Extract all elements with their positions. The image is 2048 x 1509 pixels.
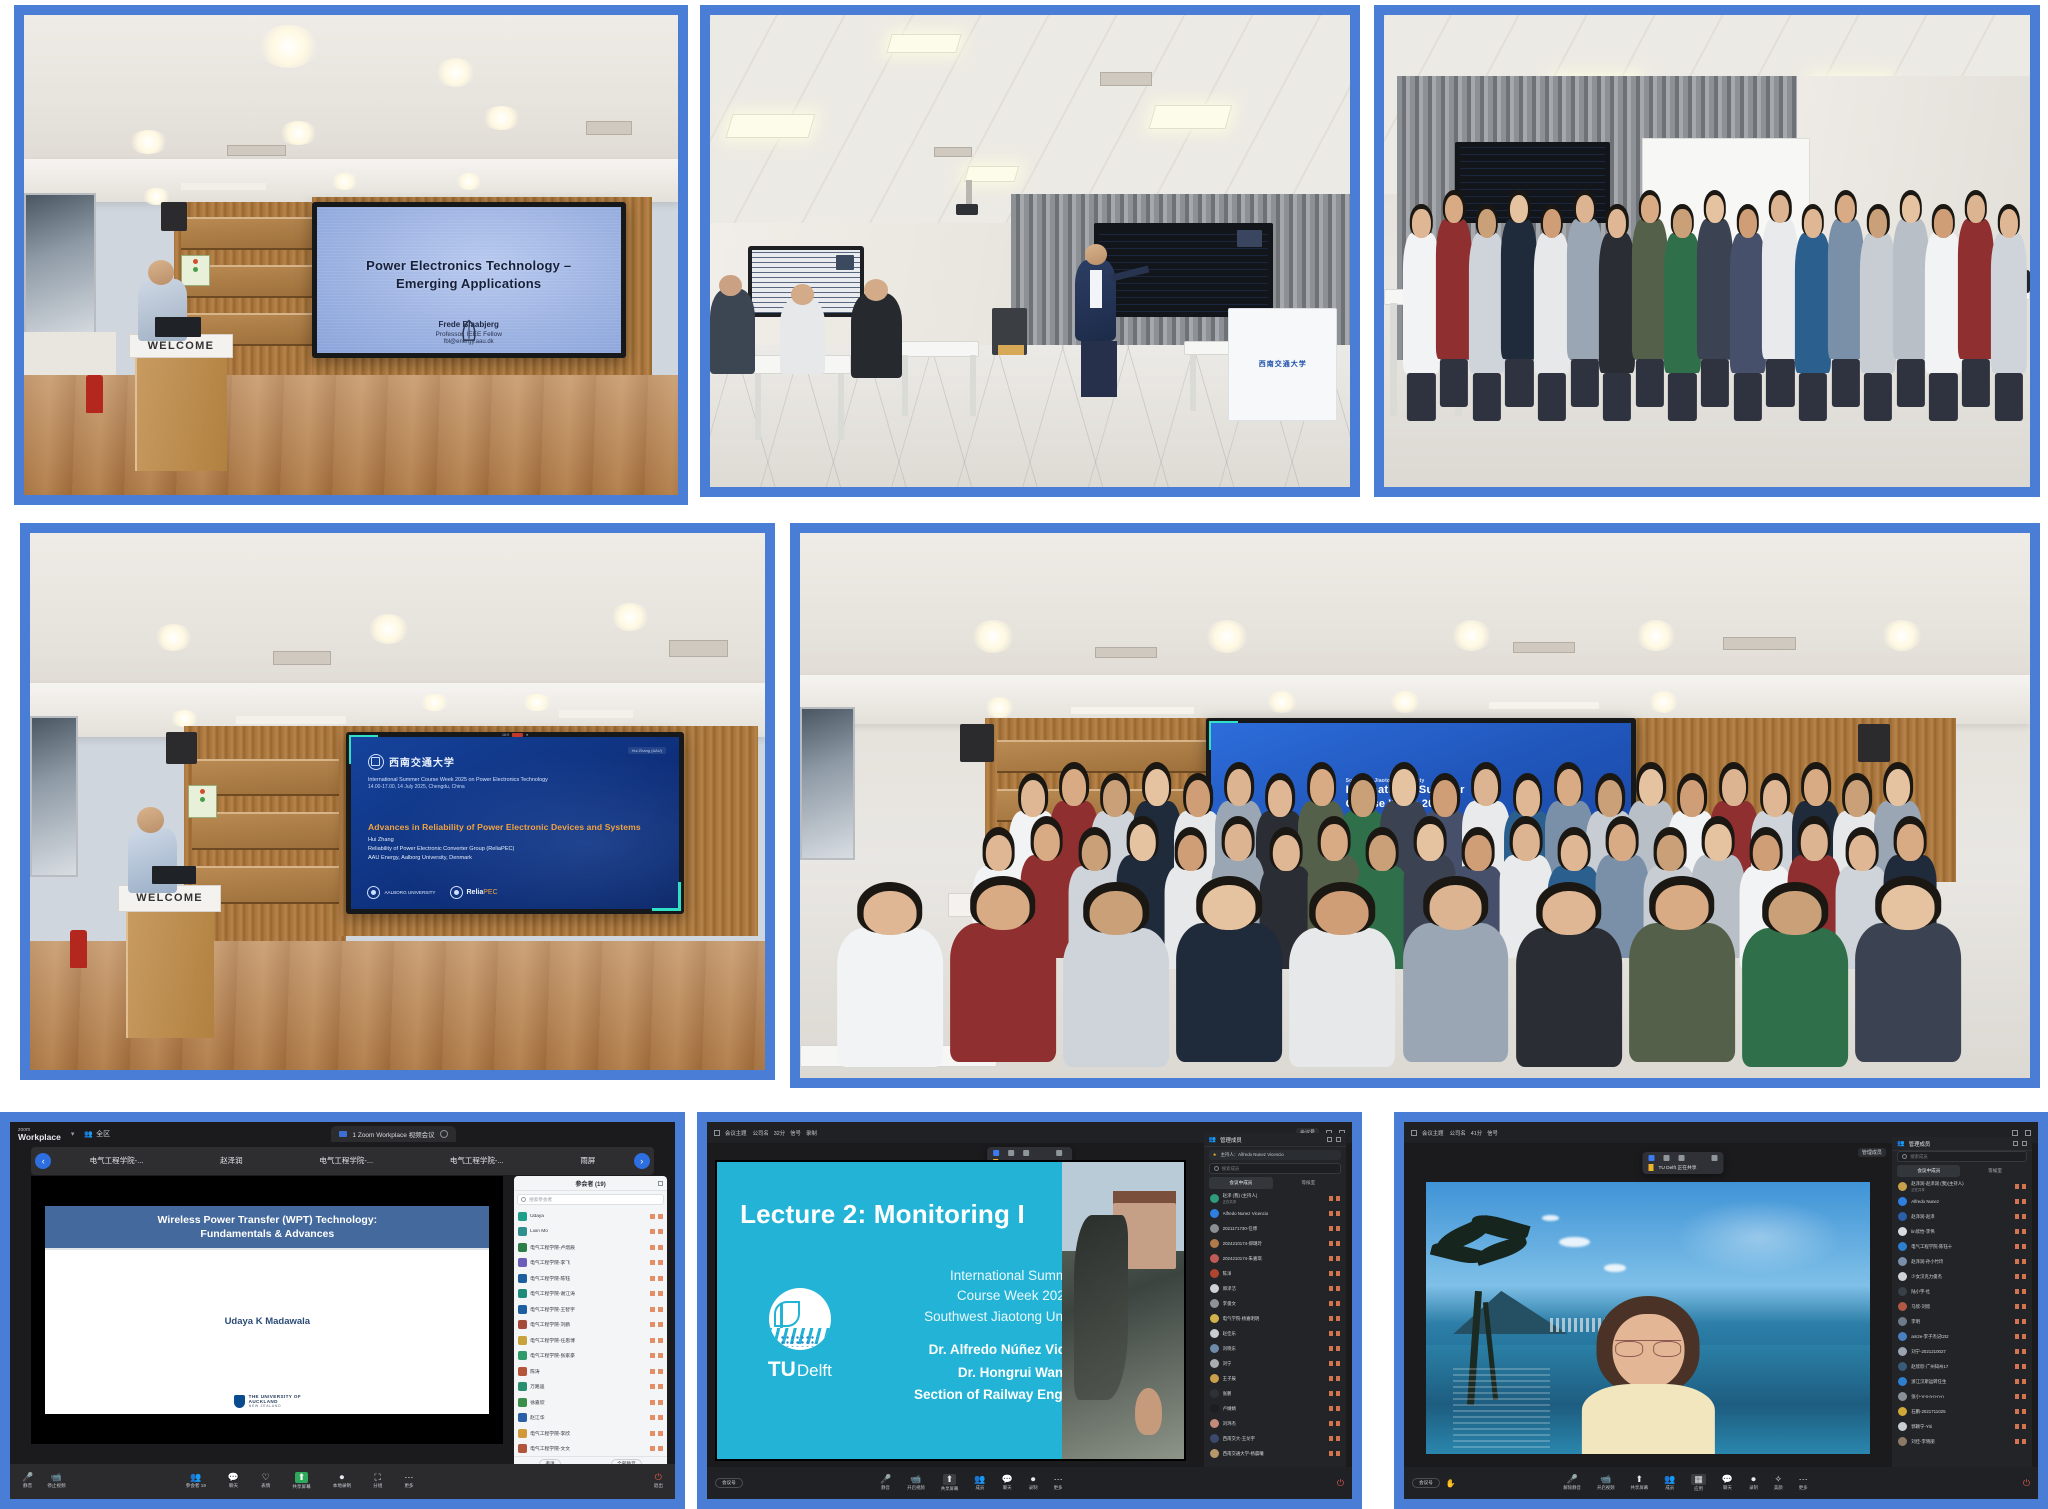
chat-icon: 💬	[228, 1473, 239, 1482]
toolbar-members[interactable]: 👥成员	[974, 1475, 985, 1491]
close-icon[interactable]	[1336, 1137, 1341, 1142]
strip-prev-button[interactable]: ‹	[35, 1153, 51, 1169]
member-row[interactable]: 赵泽润-孙小竹玲	[1892, 1254, 2031, 1269]
video-icon[interactable]	[1336, 1271, 1340, 1276]
video-icon[interactable]	[2022, 1214, 2026, 1219]
member-row[interactable]: Alfredo Nunez Vicencio	[1204, 1206, 1346, 1221]
member-row[interactable]: 张小-V-n-n-n-n-n	[1892, 1389, 2031, 1404]
mic-icon[interactable]	[1329, 1301, 1333, 1306]
photo-collage: Power Electronics Technology – Emerging …	[0, 0, 2048, 1509]
manage-members-chip[interactable]: 管理成员	[1858, 1148, 1886, 1157]
member-row[interactable]: 2024210174-朱嘉琪	[1204, 1251, 1346, 1266]
mic-icon[interactable]	[650, 1229, 655, 1234]
mic-icon[interactable]	[1329, 1436, 1333, 1441]
toolbar-participants[interactable]: 👥参会者 19	[186, 1473, 206, 1489]
member-row[interactable]: 郭颖宁-Yiti	[1892, 1419, 2031, 1434]
mic-icon[interactable]	[1329, 1256, 1333, 1261]
video-icon[interactable]	[1336, 1421, 1340, 1426]
podium-welcome-text: WELCOME	[136, 892, 203, 904]
railway-emblem-icon	[769, 1288, 831, 1350]
member-row[interactable]: 西南交大-王龙宇	[1204, 1431, 1346, 1446]
participant-row[interactable]: 徐嘉欣	[514, 1394, 667, 1410]
face	[1576, 195, 1594, 223]
zoom-shared-screen[interactable]: Wireless Power Transfer (WPT) Technology…	[31, 1176, 503, 1444]
video-icon[interactable]	[658, 1400, 663, 1405]
video-icon[interactable]	[658, 1353, 663, 1358]
video-icon[interactable]	[2022, 1259, 2026, 1264]
mic-icon[interactable]	[650, 1307, 655, 1312]
mic-icon[interactable]	[2015, 1394, 2019, 1399]
participant-row[interactable]: 赵江华	[514, 1410, 667, 1426]
toolbar-leave[interactable]: ⏻退出	[654, 1473, 663, 1489]
participant-row[interactable]: 电气工程学院-谢江涛	[514, 1286, 667, 1302]
strip-name[interactable]: 电气工程学院-...	[450, 1155, 504, 1166]
mic-icon[interactable]	[1329, 1211, 1333, 1216]
mic-icon[interactable]	[2015, 1379, 2019, 1384]
toolbar-record[interactable]: ⏺录制	[1029, 1475, 1038, 1491]
stop-icon[interactable]	[1008, 1150, 1014, 1156]
toolbar-record[interactable]: ⏺本地录制	[333, 1473, 351, 1489]
avatar	[518, 1398, 527, 1407]
mic-icon[interactable]	[2015, 1199, 2019, 1204]
toolbar-camera[interactable]: 📹开启视频	[1597, 1475, 1615, 1491]
video-icon[interactable]	[658, 1446, 663, 1451]
sharing-float-toolbar[interactable]: TU Delft 正在共享	[1642, 1152, 1723, 1174]
member-row[interactable]: 电气学院-杨嘉明明	[1204, 1311, 1346, 1326]
participant-row[interactable]: 电气工程学院-王智宇	[514, 1301, 667, 1317]
close-icon[interactable]	[2025, 1130, 2031, 1136]
member-row[interactable]: 少女汉克力俊杰	[1892, 1269, 2031, 1284]
mic-icon[interactable]	[650, 1291, 655, 1296]
grid-icon[interactable]	[714, 1130, 720, 1136]
video-icon[interactable]	[1336, 1211, 1340, 1216]
mic-icon[interactable]	[2015, 1409, 2019, 1414]
video-icon[interactable]	[1336, 1361, 1340, 1366]
video-icon[interactable]	[658, 1384, 663, 1389]
face	[1510, 195, 1528, 223]
toolbar-mic-muted[interactable]: 🎤静音	[22, 1473, 33, 1489]
torso	[1958, 219, 1994, 359]
person-figure	[1629, 876, 1735, 1061]
video-icon[interactable]	[658, 1245, 663, 1250]
video-icon[interactable]	[1336, 1451, 1340, 1456]
slide-wpt: Wireless Power Transfer (WPT) Technology…	[45, 1206, 489, 1415]
mic-icon[interactable]	[650, 1446, 655, 1451]
torso	[1855, 923, 1961, 1062]
toolbar-video-muted[interactable]: 📹停止视频	[47, 1473, 65, 1489]
member-row[interactable]: 陈洋	[1204, 1266, 1346, 1281]
mic-icon[interactable]	[2015, 1184, 2019, 1189]
avatar	[1210, 1209, 1219, 1218]
member-row[interactable]: 王子辰	[1204, 1371, 1346, 1386]
strip-name[interactable]: 雨屏	[580, 1155, 595, 1166]
video-icon[interactable]	[658, 1338, 663, 1343]
participant-row[interactable]: 电气工程学院-文文	[514, 1441, 667, 1457]
video-icon[interactable]	[1336, 1256, 1340, 1261]
participant-row[interactable]: 电气工程学院-卢熠辰	[514, 1239, 667, 1255]
participants-list[interactable]: UdayaLixin Mo电气工程学院-卢熠辰电气工程学院-李飞电气工程学院-陈…	[514, 1208, 667, 1456]
mic-icon[interactable]	[650, 1276, 655, 1281]
mic-icon[interactable]	[650, 1338, 655, 1343]
mic-icon[interactable]	[2015, 1304, 2019, 1309]
mic-icon[interactable]	[1329, 1316, 1333, 1321]
minimize-icon[interactable]	[993, 1150, 999, 1156]
member-row[interactable]: lin欣怡-李伟	[1892, 1224, 2031, 1239]
member-row[interactable]: 郑泽洁	[1204, 1281, 1346, 1296]
video-icon[interactable]	[1336, 1286, 1340, 1291]
mic-icon[interactable]	[2015, 1439, 2019, 1444]
toolbar-share[interactable]: ⬆共享屏幕	[941, 1474, 959, 1492]
mic-icon[interactable]	[2015, 1334, 2019, 1339]
chevron-left-icon: ‹	[42, 1156, 45, 1166]
video-icon[interactable]	[1336, 1241, 1340, 1246]
video-icon[interactable]	[658, 1415, 663, 1420]
toolbar-beauty[interactable]: ✧美颜	[1774, 1475, 1783, 1491]
smart-whiteboard	[1094, 223, 1273, 317]
grid-icon[interactable]	[1411, 1130, 1417, 1136]
mic-icon[interactable]	[2015, 1229, 2019, 1234]
toolbar-breakout[interactable]: ⛶分组	[373, 1473, 382, 1489]
video-icon[interactable]	[658, 1307, 663, 1312]
member-row[interactable]: 西南交通大学-杨晨曦	[1204, 1446, 1346, 1461]
video-icon[interactable]	[2022, 1274, 2026, 1279]
video-icon[interactable]	[1336, 1391, 1340, 1396]
meeting-id-pill[interactable]: 会议号	[1412, 1478, 1440, 1488]
mic-icon[interactable]	[650, 1369, 655, 1374]
student-figure	[851, 293, 902, 378]
titlebar-label: 公司名	[1450, 1129, 1466, 1137]
toolbar-chat[interactable]: 💬聊天	[1722, 1475, 1733, 1491]
toolbar-more[interactable]: ⋯更多	[1054, 1475, 1063, 1491]
video-icon[interactable]	[2022, 1199, 2026, 1204]
member-name: 陆小宇-杜	[1911, 1289, 1930, 1295]
video-icon[interactable]	[2022, 1439, 2026, 1444]
member-row[interactable]: 石鹏-2021711025	[1892, 1404, 2031, 1419]
participant-row[interactable]: 陈涛	[514, 1363, 667, 1379]
wpt-title-line2: Fundamentals & Advances	[51, 1227, 483, 1241]
mic-icon[interactable]	[1329, 1241, 1333, 1246]
search-placeholder: 搜索参会者	[529, 1197, 552, 1203]
members-search-input[interactable]: 搜索成员	[1897, 1151, 2026, 1162]
toolbar-apps[interactable]: ▦应用	[1691, 1474, 1706, 1492]
toolbar-more[interactable]: ⋯更多	[1799, 1475, 1808, 1491]
avatar	[1898, 1182, 1907, 1191]
video-icon[interactable]	[1336, 1226, 1340, 1231]
video-icon[interactable]	[658, 1322, 663, 1327]
torso	[1629, 923, 1735, 1062]
list-icon[interactable]	[1023, 1150, 1029, 1156]
close-icon[interactable]	[440, 1130, 448, 1138]
tencent-meeting-window-lecture[interactable]: 会议主题 公司名32分信号录制 会议号 TU Delft - Dr. Núñez…	[697, 1112, 1362, 1509]
face	[1417, 824, 1443, 861]
video-icon[interactable]	[2022, 1424, 2026, 1429]
face	[1203, 885, 1256, 929]
mic-icon[interactable]	[650, 1400, 655, 1405]
video-icon[interactable]	[658, 1369, 663, 1374]
mic-icon[interactable]	[1329, 1271, 1333, 1276]
legs	[1897, 359, 1925, 407]
tencent-members-panel[interactable]: 👥 管理成员 搜索成员 会议中成员等候室 赵泽润-赵泽润 (我)(主持人)正在共…	[1892, 1137, 2031, 1488]
torso	[1893, 219, 1929, 359]
member-name: 李明	[1911, 1319, 1920, 1325]
toolbar-record[interactable]: ⏺录制	[1749, 1475, 1758, 1491]
video-icon[interactable]	[1336, 1301, 1340, 1306]
speaker-head	[148, 260, 174, 285]
mic-icon[interactable]	[2015, 1364, 2019, 1369]
participants-search-input[interactable]: 搜索参会者	[517, 1194, 664, 1205]
mic-icon[interactable]	[1329, 1226, 1333, 1231]
video-icon[interactable]	[1336, 1406, 1340, 1411]
member-row[interactable]: 张鹏	[1204, 1386, 1346, 1401]
members-list[interactable]: 赵泽 (我) (主持人)正在共享Alfredo Nunez Vicencio20…	[1204, 1191, 1346, 1487]
participant-row[interactable]: 电气工程学院-李欣	[514, 1425, 667, 1441]
tencent-toolbar[interactable]: 会议号 ✋ 🎤解除静音📹开启视频⬆共享屏幕👥成员▦应用💬聊天⏺录制✧美颜⋯更多 …	[1404, 1467, 2038, 1499]
tencent-video-stage[interactable]	[1426, 1182, 1870, 1453]
zoom-participants-panel[interactable]: 参会者 (19) 搜索参会者 UdayaLixin Mo电气工程学院-卢熠辰电气…	[514, 1176, 667, 1470]
member-row[interactable]: 2024210174-郑璐玲	[1204, 1236, 1346, 1251]
participant-row[interactable]: 万路遥	[514, 1379, 667, 1395]
video-icon[interactable]	[1336, 1196, 1340, 1201]
toolbar-chat[interactable]: 💬聊天	[1002, 1475, 1013, 1491]
video-icon[interactable]	[2022, 1409, 2026, 1414]
minimize-icon[interactable]	[1648, 1155, 1654, 1161]
torso	[1501, 219, 1537, 359]
person-figure	[1176, 876, 1282, 1061]
video-icon[interactable]	[1336, 1316, 1340, 1321]
legs	[1995, 373, 2023, 421]
participant-row[interactable]: Lixin Mo	[514, 1224, 667, 1240]
mic-icon[interactable]	[650, 1353, 655, 1358]
member-row[interactable]: 刘宁-2021210027	[1892, 1344, 2031, 1359]
panel-tab[interactable]: 会议中成员	[1897, 1165, 1960, 1177]
member-name: 张小-V-n-n-n-n-n	[1911, 1394, 1943, 1400]
tencent-toolbar[interactable]: 会议号 🎤静音📹开启视频⬆共享屏幕👥成员💬聊天⏺录制⋯更多 ⏻	[707, 1467, 1352, 1499]
member-row[interactable]: 赵欣欣-广州知州17	[1892, 1359, 2031, 1374]
face	[1543, 209, 1561, 237]
mic-icon[interactable]	[1329, 1346, 1333, 1351]
avatar	[518, 1351, 527, 1360]
strip-name[interactable]: 电气工程学院-...	[90, 1155, 144, 1166]
video-icon[interactable]	[2022, 1244, 2026, 1249]
popout-icon[interactable]	[2013, 1141, 2018, 1146]
torso	[1516, 928, 1622, 1067]
mic-icon[interactable]	[650, 1384, 655, 1389]
zoom-tab-meeting[interactable]: 1 Zoom Workplace 视频会议	[331, 1126, 455, 1142]
more-icon[interactable]	[1711, 1155, 1717, 1161]
panel-tab[interactable]: 会议中成员	[1209, 1177, 1273, 1189]
chevron-down-icon[interactable]: ▾	[71, 1130, 75, 1138]
titlebar-label: 信号	[790, 1129, 801, 1137]
video-icon[interactable]	[2022, 1364, 2026, 1369]
mic-icon[interactable]	[1329, 1421, 1333, 1426]
member-name: 马欣-刘欣	[1911, 1304, 1930, 1310]
member-row[interactable]: 赵泽 (我) (主持人)正在共享	[1204, 1191, 1346, 1206]
mic-icon[interactable]	[1329, 1196, 1333, 1201]
mic-icon[interactable]	[1329, 1406, 1333, 1411]
leave-icon[interactable]: ⏻	[2023, 1478, 2030, 1489]
video-icon[interactable]	[658, 1291, 663, 1296]
strip-next-button[interactable]: ›	[634, 1153, 650, 1169]
mic-icon[interactable]	[2015, 1289, 2019, 1294]
member-row[interactable]: 李明	[1892, 1314, 2031, 1329]
tencent-members-panel[interactable]: 👥 管理成员 ★ 主持人：Alfredo Nunez Vicencio 搜索成员…	[1204, 1133, 1346, 1487]
member-row[interactable]: 2021171730-任博	[1204, 1221, 1346, 1236]
list-icon[interactable]	[1678, 1155, 1684, 1161]
mic-icon[interactable]	[2015, 1214, 2019, 1219]
strip-name[interactable]: 电气工程学院-...	[319, 1155, 373, 1166]
member-row[interactable]: 陆小宇-杜	[1892, 1284, 2031, 1299]
toolbar-mic[interactable]: 🎤解除静音	[1563, 1475, 1581, 1491]
participant-name: 电气工程学院-李飞	[530, 1259, 570, 1266]
close-icon[interactable]	[2022, 1141, 2027, 1146]
search-icon	[1214, 1166, 1219, 1171]
hand-icon[interactable]: ✋	[1446, 1479, 1456, 1488]
participant-row[interactable]: 电气工程学院-陈钰	[514, 1270, 667, 1286]
video-icon[interactable]	[1336, 1331, 1340, 1336]
torso	[1469, 233, 1505, 373]
zoom-view-chip[interactable]: 👥 全区	[84, 1129, 110, 1139]
mic-icon[interactable]	[2015, 1349, 2019, 1354]
member-row[interactable]: 刘晓东	[1204, 1341, 1346, 1356]
member-row[interactable]: Alfredo Nunez	[1892, 1194, 2031, 1209]
toolbar-mic[interactable]: 🎤静音	[880, 1475, 891, 1491]
member-row[interactable]: 李俊文	[1204, 1296, 1346, 1311]
member-row[interactable]: 浙江汉斯运转任生	[1892, 1374, 2031, 1389]
toolbar-label: 聊天	[229, 1483, 238, 1489]
member-row[interactable]: 马欣-刘欣	[1892, 1299, 2031, 1314]
mic-icon[interactable]	[1329, 1376, 1333, 1381]
video-icon[interactable]	[2022, 1304, 2026, 1309]
video-icon[interactable]	[2022, 1184, 2026, 1189]
panel-tabs[interactable]: 会议中成员等候室	[1897, 1165, 2026, 1177]
face	[1849, 835, 1875, 872]
mic-icon[interactable]	[650, 1415, 655, 1420]
minimize-icon[interactable]	[2012, 1130, 2018, 1136]
participant-name: 电气工程学院-谢江涛	[530, 1290, 575, 1297]
member-row[interactable]: 赵泽润-赵泽	[1892, 1209, 2031, 1224]
video-icon[interactable]	[1336, 1346, 1340, 1351]
torso	[1795, 233, 1831, 373]
meeting-id-pill[interactable]: 会议号	[715, 1478, 743, 1488]
video-icon[interactable]	[2022, 1349, 2026, 1354]
video-icon[interactable]	[2022, 1379, 2026, 1384]
video-icon[interactable]	[2022, 1229, 2026, 1234]
panel-tabs[interactable]: 会议中成员等候室	[1209, 1177, 1341, 1189]
mic-icon[interactable]	[2015, 1259, 2019, 1264]
video-icon[interactable]	[2022, 1319, 2026, 1324]
video-icon[interactable]	[1336, 1376, 1340, 1381]
member-row[interactable]: 赵佳乐	[1204, 1326, 1346, 1341]
popout-icon[interactable]	[658, 1181, 663, 1186]
video-icon[interactable]	[658, 1276, 663, 1281]
video-icon[interactable]	[658, 1260, 663, 1265]
member-row[interactable]: 刘宁	[1204, 1356, 1346, 1371]
toolbar-camera[interactable]: 📹开启视频	[907, 1475, 925, 1491]
member-row[interactable]: 卢婧婧	[1204, 1401, 1346, 1416]
video-icon[interactable]	[1336, 1436, 1340, 1441]
toolbar-label: 更多	[404, 1483, 413, 1489]
popout-icon[interactable]	[1327, 1137, 1332, 1142]
mic-icon[interactable]	[650, 1260, 655, 1265]
toolbar-reactions[interactable]: ♡表情	[261, 1473, 270, 1489]
toolbar-chat[interactable]: 💬聊天	[228, 1473, 239, 1489]
slide-speaker: Hui Zhang	[368, 836, 662, 845]
tencent-shared-screen[interactable]: Lecture 2: Monitoring I TU Delft	[715, 1160, 1186, 1462]
member-name: 赵泽润-赵泽	[1911, 1214, 1934, 1220]
titlebar-label: 41分	[1471, 1129, 1482, 1137]
auckland-logo: THE UNIVERSITY OF AUCKLAND NEW ZEALAND	[45, 1394, 489, 1415]
toolbar-share[interactable]: ⬆共享屏幕	[1631, 1475, 1649, 1491]
video-icon[interactable]	[658, 1431, 663, 1436]
toolbar-members[interactable]: 👥成员	[1664, 1475, 1675, 1491]
member-row[interactable]: 电气工程学院-陈钰十	[1892, 1239, 2031, 1254]
mic-icon[interactable]	[1329, 1451, 1333, 1456]
member-row[interactable]: am2e-李子杰记t2t2	[1892, 1329, 2031, 1344]
mic-icon: 🎤	[1567, 1475, 1578, 1484]
more-icon[interactable]	[1056, 1150, 1062, 1156]
presentation-screen: 16:9● Hui Zhang (AAU) 西南交通大学 Internation…	[346, 732, 684, 915]
tencent-meeting-window-speaker[interactable]: 会议主题 公司名41分信号 管理成员 TU Delft 正在共享	[1394, 1112, 2048, 1509]
zoom-meeting-window[interactable]: zoom Workplace ▾ 👥 全区 1 Zoom Workplace 视…	[0, 1112, 685, 1509]
toolbar-share-screen[interactable]: ⬆共享屏幕	[292, 1472, 310, 1490]
member-row[interactable]: 刘佳-李晓丽	[1892, 1434, 2031, 1449]
mic-icon[interactable]	[650, 1245, 655, 1250]
participant-row[interactable]: Udaya	[514, 1208, 667, 1224]
mic-icon[interactable]	[1329, 1391, 1333, 1396]
mic-icon[interactable]	[2015, 1424, 2019, 1429]
video-icon[interactable]	[2022, 1394, 2026, 1399]
video-icon[interactable]	[2022, 1289, 2026, 1294]
stop-icon[interactable]	[1663, 1155, 1669, 1161]
mic-icon[interactable]	[1329, 1361, 1333, 1366]
face	[1804, 209, 1822, 237]
panel-tab[interactable]: 等候室	[1963, 1165, 2026, 1177]
mic-icon[interactable]	[650, 1431, 655, 1436]
mic-icon[interactable]	[2015, 1274, 2019, 1279]
video-icon[interactable]	[2022, 1334, 2026, 1339]
participant-row[interactable]: 电气工程学院-李飞	[514, 1255, 667, 1271]
mic-icon[interactable]	[650, 1214, 655, 1219]
toolbar-more[interactable]: ⋯更多	[404, 1473, 413, 1489]
mic-icon[interactable]	[650, 1322, 655, 1327]
legs	[1962, 359, 1990, 407]
face	[1433, 780, 1457, 817]
leave-icon[interactable]: ⏻	[1337, 1478, 1344, 1489]
participant-row[interactable]: 电气工程学院-张家豪	[514, 1348, 667, 1364]
member-row[interactable]: 刘玮杰	[1204, 1416, 1346, 1431]
video-icon[interactable]	[658, 1229, 663, 1234]
video-icon[interactable]	[658, 1214, 663, 1219]
panel-tab[interactable]: 等候室	[1276, 1177, 1340, 1189]
members-search-input[interactable]: 搜索成员	[1209, 1163, 1341, 1174]
participant-name: 电气工程学院-卢熠辰	[530, 1244, 575, 1251]
mic-icon[interactable]	[1329, 1331, 1333, 1336]
face	[1845, 780, 1869, 817]
participant-row[interactable]: 电气工程学院-刘鹏	[514, 1317, 667, 1333]
zoom-titlebar: zoom Workplace ▾ 👥 全区 1 Zoom Workplace 视…	[10, 1122, 675, 1147]
participant-row[interactable]: 电气工程学院-任思博	[514, 1332, 667, 1348]
mic-icon[interactable]	[2015, 1319, 2019, 1324]
mic-icon[interactable]	[1329, 1286, 1333, 1291]
zoom-toolbar[interactable]: 🎤静音📹停止视频 👥参会者 19💬聊天♡表情⬆共享屏幕⏺本地录制⛶分组⋯更多 ⏻…	[10, 1464, 675, 1499]
member-row[interactable]: 赵泽润-赵泽润 (我)(主持人)正在共享	[1892, 1179, 2031, 1194]
mic-icon[interactable]	[2015, 1244, 2019, 1249]
members-list[interactable]: 赵泽润-赵泽润 (我)(主持人)正在共享Alfredo Nunez赵泽润-赵泽l…	[1892, 1179, 2031, 1488]
strip-name[interactable]: 赵泽润	[220, 1155, 243, 1166]
member-name: 刘宁	[1223, 1361, 1232, 1367]
member-name: 少女汉克力俊杰	[1911, 1274, 1942, 1280]
face	[1655, 885, 1708, 929]
